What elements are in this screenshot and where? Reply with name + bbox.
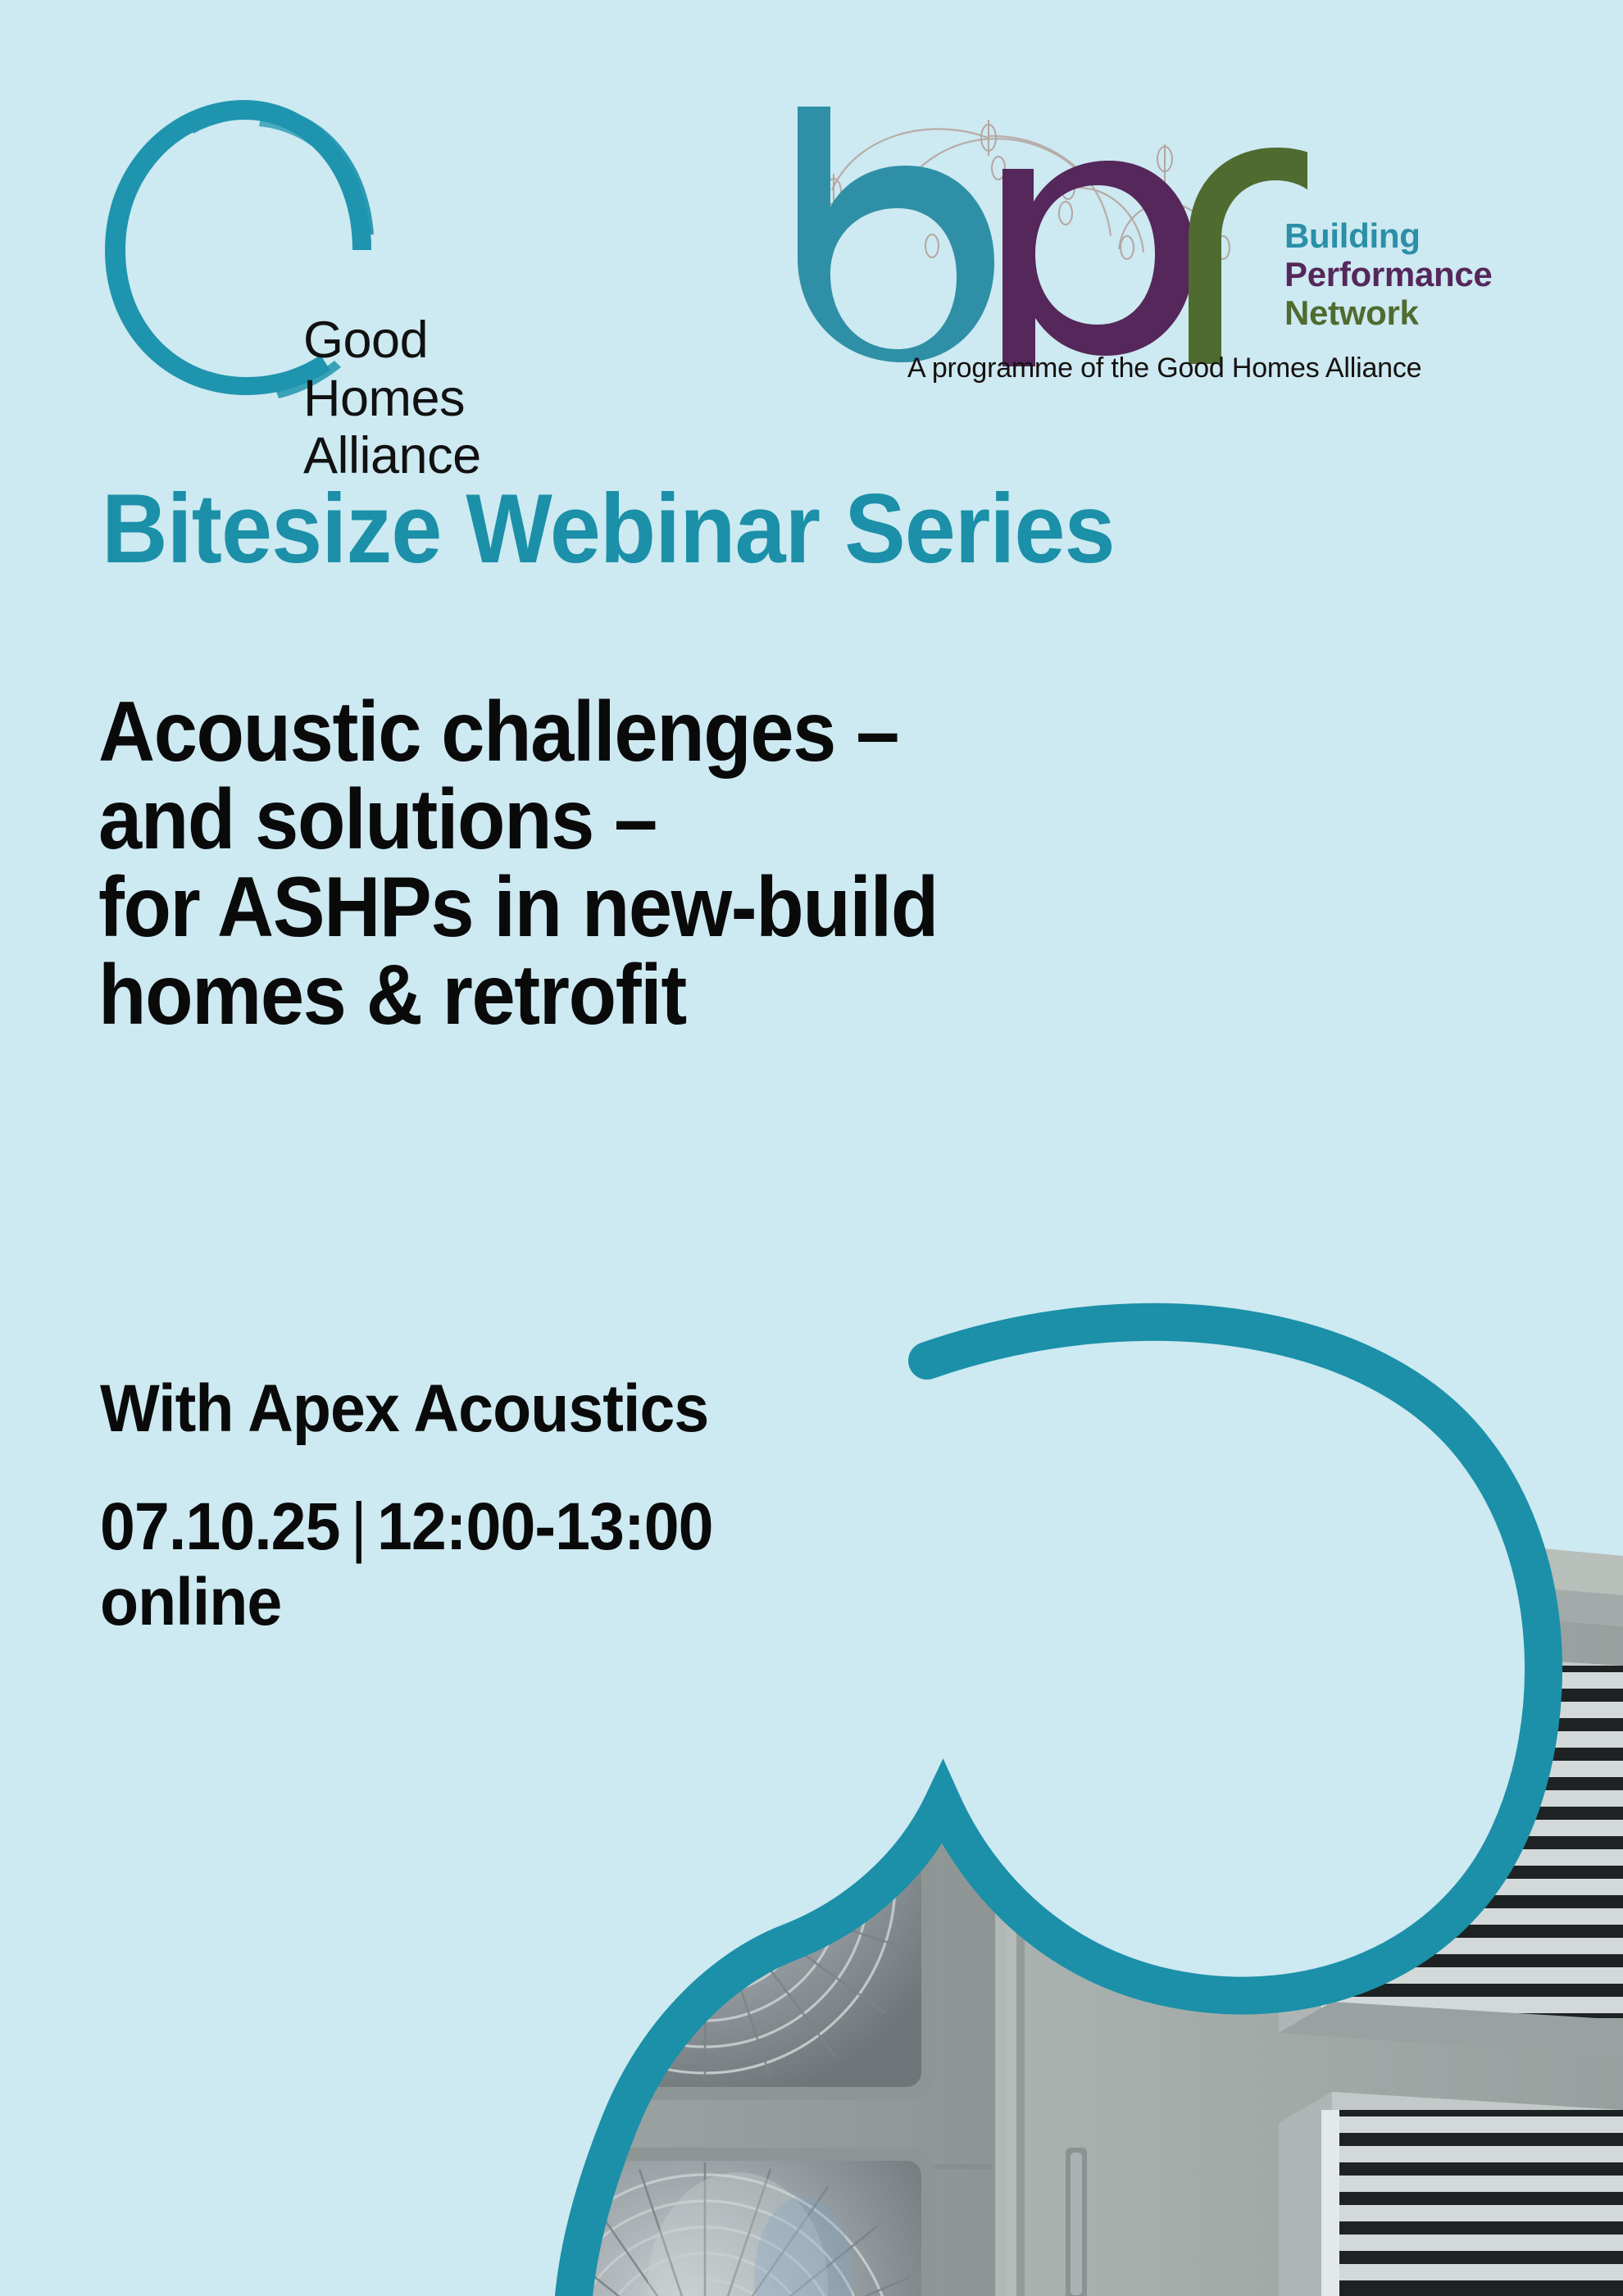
page-title: Acoustic challenges – and solutions – fo…	[98, 689, 938, 1039]
heat-pump-illustration	[0, 1295, 1623, 2296]
bpn-wordmark: Building Performance Network	[1284, 216, 1492, 332]
bpn-monogram-icon	[783, 92, 1307, 366]
good-homes-alliance-wordmark: Good Homes Alliance	[303, 311, 481, 485]
fan-grille-lower	[475, 2148, 934, 2296]
gha-line-1: Good	[303, 311, 481, 370]
title-line-1: Acoustic challenges –	[98, 689, 938, 776]
poster-canvas: Good Homes Alliance	[0, 0, 1623, 2296]
bpn-word-network: Network	[1284, 293, 1492, 332]
louvre-vent-lower	[1279, 2092, 1623, 2296]
title-line-3: for ASHPs in new-build	[98, 864, 938, 952]
air-source-heat-pump-photo	[0, 1295, 1623, 2296]
bpn-word-performance: Performance	[1284, 255, 1492, 293]
logo-row: Good Homes Alliance	[0, 0, 1623, 443]
good-homes-alliance-logo: Good Homes Alliance	[89, 82, 548, 418]
title-line-2: and solutions –	[98, 776, 938, 864]
bpn-word-building: Building	[1284, 216, 1492, 255]
gha-line-2: Homes	[303, 370, 481, 428]
title-line-4: homes & retrofit	[98, 952, 938, 1039]
series-label: Bitesize Webinar Series	[102, 472, 1115, 585]
bpn-tagline: A programme of the Good Homes Alliance	[907, 352, 1421, 384]
building-performance-network-logo: Building Performance Network A programme…	[783, 92, 1545, 411]
